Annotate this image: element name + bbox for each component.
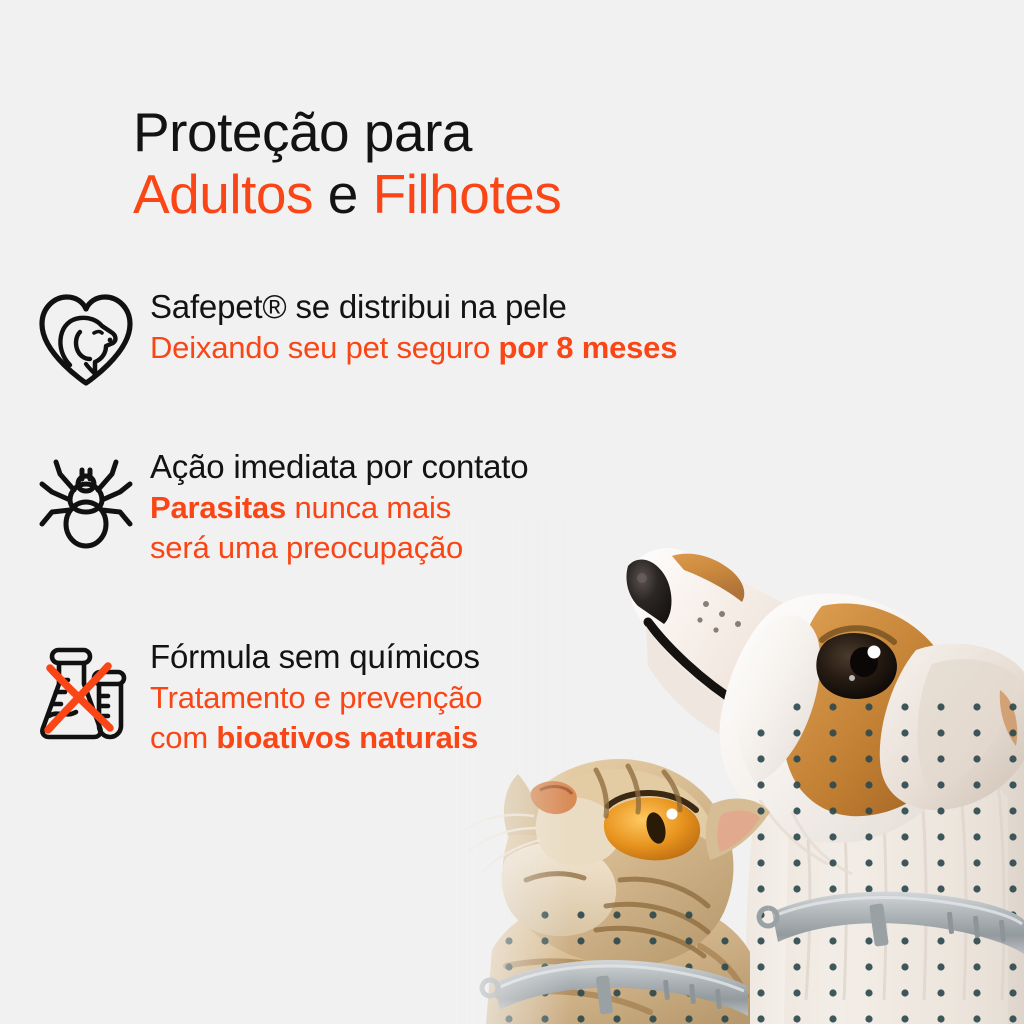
feature-sub-emphasis: por 8 meses: [499, 330, 678, 365]
feature-text-group: Safepet® se distribui na pele Deixando s…: [142, 286, 677, 368]
feature-subtitle: Deixando seu pet seguro por 8 meses: [150, 328, 677, 368]
feature-item-no-chemicals: Fórmula sem químicos Tratamento e preven…: [30, 636, 482, 758]
feature-title: Safepet® se distribui na pele: [150, 286, 677, 328]
feature-sub-normal: nunca mais: [286, 490, 451, 525]
headline-conjunction: e: [313, 163, 373, 225]
promo-banner: Proteção para Adultos e Filhotes Safepet…: [0, 0, 1024, 1024]
dog-in-heart-icon: [30, 286, 142, 398]
dog-collar: [759, 892, 1024, 954]
cat-collar: [482, 960, 748, 1016]
headline-line-2: Adultos e Filhotes: [133, 163, 833, 225]
feature-item-immediate-action: Ação imediata por contato Parasitas nunc…: [30, 446, 528, 568]
feature-subtitle-line-2: com bioativos naturais: [150, 718, 482, 758]
dog-photo: [626, 548, 1024, 1024]
feature-sub-normal: Deixando seu pet seguro: [150, 330, 499, 365]
tick-parasite-icon: [30, 446, 142, 558]
feature-text-group: Ação imediata por contato Parasitas nunc…: [142, 446, 528, 568]
cat-photo: [464, 759, 770, 1024]
protection-dots-overlay: [490, 700, 1024, 1024]
page-title: Proteção para Adultos e Filhotes: [133, 101, 833, 225]
feature-subtitle-line-1: Parasitas nunca mais: [150, 488, 528, 528]
feature-sub-emphasis: Parasitas: [150, 490, 286, 525]
feature-sub-normal: com: [150, 720, 216, 755]
headline-filhotes: Filhotes: [373, 163, 562, 225]
feature-title: Fórmula sem químicos: [150, 636, 482, 678]
feature-subtitle-line-1: Tratamento e prevenção: [150, 678, 482, 718]
feature-title: Ação imediata por contato: [150, 446, 528, 488]
dog-eye: [816, 628, 897, 699]
no-chemicals-flask-icon: [30, 636, 142, 748]
headline-line-1: Proteção para: [133, 101, 833, 163]
feature-item-skin-distribution: Safepet® se distribui na pele Deixando s…: [30, 286, 677, 398]
headline-adultos: Adultos: [133, 163, 313, 225]
feature-text-group: Fórmula sem químicos Tratamento e preven…: [142, 636, 482, 758]
cat-eye: [604, 793, 700, 860]
feature-sub-emphasis: bioativos naturais: [216, 720, 478, 755]
feature-subtitle-line-2: será uma preocupação: [150, 528, 528, 568]
